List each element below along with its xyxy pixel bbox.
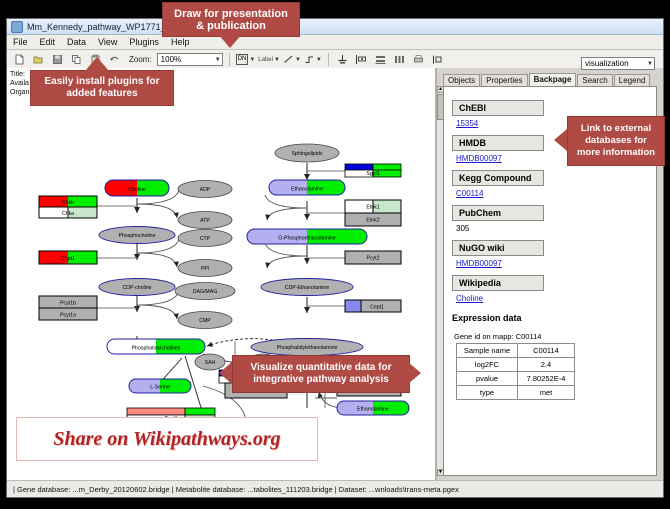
menu-item-view[interactable]: View <box>96 37 119 47</box>
expr-key: log2FC <box>457 358 518 372</box>
chevron-down-icon[interactable]: ▼ <box>647 61 653 67</box>
menu-item-data[interactable]: Data <box>65 37 88 47</box>
kegg-compound-link[interactable]: C00114 <box>456 189 648 198</box>
table-row: pvalue 7.80252E-4 <box>457 372 575 386</box>
node-label: CDP-Ethanolamine <box>285 285 330 291</box>
chevron-down-icon[interactable]: ▼ <box>295 57 301 63</box>
expr-key: type <box>457 386 518 400</box>
label-tool[interactable]: Label ▼ <box>258 57 280 63</box>
gene-label: Pcyt1b <box>60 301 76 307</box>
node-label: CMP <box>199 318 211 324</box>
node-cdp-choline[interactable]: CDP-choline <box>99 279 175 296</box>
wikipedia-header: Wikipedia <box>452 275 544 291</box>
callout-line-2: & publication <box>196 20 266 32</box>
tab-search[interactable]: Search <box>577 74 612 86</box>
datanode-tool[interactable]: DN ▼ <box>236 54 256 65</box>
node-l-serine-left[interactable]: L-Serine <box>129 379 191 393</box>
callout-visualize-arrow-left-icon <box>219 362 232 384</box>
menu-item-edit[interactable]: Edit <box>38 37 58 47</box>
visualization-combo[interactable]: visualization ▼ <box>581 57 655 70</box>
table-row: log2FC 2.4 <box>457 358 575 372</box>
new-file-icon[interactable] <box>11 52 27 68</box>
share-text: Share on Wikipathways.org <box>53 428 280 451</box>
visualization-value: visualization <box>585 59 629 68</box>
chevron-down-icon[interactable]: ▼ <box>316 57 322 63</box>
tab-objects[interactable]: Objects <box>443 74 480 86</box>
node-label: ATP <box>200 218 210 224</box>
callout-line-2: databases for <box>585 135 647 147</box>
node-ppi[interactable]: PPi <box>178 260 232 277</box>
gene-pcyt1b-pcyt1a[interactable]: Pcyt1b Pcyt1a <box>39 296 97 320</box>
table-row: type met <box>457 386 575 400</box>
label-tool-label: Label <box>258 57 273 63</box>
nugo-wiki-link[interactable]: HMDB00097 <box>456 259 648 268</box>
callout-line-2: integrative pathway analysis <box>253 374 389 386</box>
callout-line-1: Link to external <box>581 123 651 135</box>
tab-properties[interactable]: Properties <box>481 74 527 86</box>
save-file-icon[interactable] <box>49 52 65 68</box>
connector-icon <box>304 54 315 65</box>
node-choline-top[interactable]: Choline <box>105 180 169 196</box>
node-label: L-Serine <box>150 385 170 391</box>
node-cmp[interactable]: CMP <box>178 312 232 329</box>
status-text: | Gene database: ...m_Derby_20120602.bri… <box>13 485 459 494</box>
gene-label: Etnk2 <box>366 218 379 224</box>
node-label: ADP <box>200 187 211 193</box>
print-icon[interactable] <box>411 52 427 68</box>
node-label: CDP-choline <box>122 285 151 291</box>
node-label: Ethanolamine <box>291 187 323 193</box>
table-row: Sample name C00114 <box>457 344 575 358</box>
menu-bar: File Edit Data View Plugins Help <box>7 35 663 50</box>
expression-data-heading: Expression data <box>452 313 648 323</box>
expr-value: met <box>518 386 575 400</box>
gene-chkb-chka[interactable]: Chkb Chka <box>39 196 97 218</box>
node-ethanolamine-bottom[interactable]: Ethanolamine <box>337 401 409 415</box>
menu-item-help[interactable]: Help <box>169 37 192 47</box>
title-bar: Mm_Kennedy_pathway_WP1771_45176.gpml <box>7 19 663 35</box>
hmdb-header: HMDB <box>452 135 544 151</box>
callout-visualize-arrow-right-icon <box>408 362 421 384</box>
callout-draw-for-publication: Draw for presentation & publication <box>162 2 300 37</box>
lock-icon[interactable] <box>430 52 446 68</box>
node-o-phosphoethanolamine[interactable]: O-Phosphoethanolamine <box>247 229 367 244</box>
gene-id-line: Gene id on mapp: C00114 <box>454 332 648 341</box>
node-label: Phosphocholine <box>119 233 156 239</box>
node-label: PPi <box>201 266 209 272</box>
node-label: Sphingolipids <box>292 151 323 157</box>
nugo-wiki-header: NuGO wiki <box>452 240 544 256</box>
callout-draw-arrow-icon <box>218 34 242 48</box>
chevron-down-icon[interactable]: ▼ <box>215 57 221 63</box>
gene-cept1[interactable]: Cept1 <box>345 300 401 312</box>
arrow-tool[interactable]: ▼ <box>304 54 322 65</box>
chevron-down-icon[interactable]: ▼ <box>249 57 255 63</box>
node-sphingolipids[interactable]: Sphingolipids <box>275 144 339 162</box>
menu-item-plugins[interactable]: Plugins <box>127 37 161 47</box>
expr-value: C00114 <box>518 344 575 358</box>
expr-value: 7.80252E-4 <box>518 372 575 386</box>
open-file-icon[interactable] <box>30 52 46 68</box>
kegg-compound-header: Kegg Compound <box>452 170 544 186</box>
tab-legend[interactable]: Legend <box>614 74 651 86</box>
pathvisio-icon <box>11 21 23 33</box>
callout-share-wikipathways: Share on Wikipathways.org <box>16 417 318 461</box>
menu-item-file[interactable]: File <box>11 37 30 47</box>
wikipedia-link[interactable]: Choline <box>456 294 648 303</box>
align-rows-icon[interactable] <box>373 52 389 68</box>
callout-line-1: Draw for presentation <box>174 8 288 20</box>
status-bar: | Gene database: ...m_Derby_20120602.bri… <box>7 480 663 497</box>
node-label: CTP <box>200 236 211 242</box>
align-left-icon[interactable] <box>354 52 370 68</box>
anchor-icon[interactable] <box>335 52 351 68</box>
node-cdp-ethanolamine[interactable]: CDP-Ethanolamine <box>261 279 353 296</box>
copy-icon[interactable] <box>68 52 84 68</box>
node-ctp[interactable]: CTP <box>178 230 232 247</box>
gene-label: Chkb <box>62 200 74 206</box>
line-tool[interactable]: ▼ <box>283 54 301 65</box>
line-icon <box>283 54 294 65</box>
node-label: SAH <box>205 360 216 366</box>
gene-chpt1[interactable]: Chpt1 <box>39 251 97 264</box>
callout-external-links: Link to external databases for more info… <box>567 116 665 166</box>
expr-key: pvalue <box>457 372 518 386</box>
side-panel-tabs: Objects Properties Backpage Search Legen… <box>443 72 663 86</box>
zoom-value: 100% <box>161 55 181 64</box>
distribute-icon[interactable] <box>392 52 408 68</box>
chebi-header: ChEBI <box>452 100 544 116</box>
callout-plugins-arrow-icon <box>85 57 109 71</box>
zoom-label: Zoom: <box>129 55 152 64</box>
expression-table: Sample name C00114 log2FC 2.4 pvalue 7.8… <box>456 343 575 400</box>
gene-label: Cept1 <box>370 305 384 311</box>
callout-links-arrow-icon <box>554 129 567 151</box>
gene-label: Chpt1 <box>61 256 75 262</box>
gene-etnk1-etnk2[interactable]: Etnk1 Etnk2 <box>345 200 401 226</box>
expr-value: 2.4 <box>518 358 575 372</box>
gene-sgpl1[interactable]: Sgpl1 <box>345 164 401 177</box>
callout-visualize-data: Visualize quantitative data for integrat… <box>232 355 410 393</box>
node-phosphatidylethanolamine[interactable]: Phosphatidylethanolamine <box>251 339 363 356</box>
node-label: Phosphatidylethanolamine <box>277 345 338 351</box>
toolbar-separator <box>229 53 230 66</box>
pubchem-value: 305 <box>456 224 648 233</box>
tab-backpage[interactable]: Backpage <box>529 73 577 86</box>
pubchem-header: PubChem <box>452 205 544 221</box>
gene-label: Chka <box>62 211 74 217</box>
node-label: O-Phosphoethanolamine <box>278 236 336 242</box>
datanode-tool-label: DN <box>236 54 249 65</box>
node-dag-mag[interactable]: DAG/MAG <box>175 283 235 300</box>
callout-line-2: added features <box>66 88 137 100</box>
expr-key: Sample name <box>457 344 518 358</box>
zoom-combo[interactable]: 100% ▼ <box>157 53 223 66</box>
node-ethanolamine-top[interactable]: Ethanolamine <box>269 180 345 195</box>
callout-line-3: more information <box>577 147 655 159</box>
node-phosphocholine[interactable]: Phosphocholine <box>99 227 175 244</box>
toolbar-separator <box>328 53 329 66</box>
callout-line-1: Visualize quantitative data for <box>251 362 392 374</box>
gene-pcyt2[interactable]: Pcyt2 <box>345 251 401 264</box>
node-atp[interactable]: ATP <box>178 212 232 229</box>
gene-label: Pcyt1a <box>60 313 76 319</box>
node-adp[interactable]: ADP <box>178 181 232 198</box>
node-label: Choline <box>128 187 146 193</box>
gene-label: Pcyt2 <box>367 256 380 262</box>
node-label: Phosphatidylcholines <box>132 346 181 352</box>
callout-line-1: Easily install plugins for <box>44 76 159 88</box>
gene-label: Sgpl1 <box>366 171 379 177</box>
node-label: DAG/MAG <box>193 289 218 295</box>
node-phosphatidylcholines[interactable]: Phosphatidylcholines <box>107 339 205 354</box>
gene-label: Etnk1 <box>366 205 379 211</box>
chevron-down-icon[interactable]: ▼ <box>274 57 280 63</box>
callout-install-plugins: Easily install plugins for added feature… <box>30 70 174 106</box>
node-label: Ethanolamine <box>357 407 389 413</box>
